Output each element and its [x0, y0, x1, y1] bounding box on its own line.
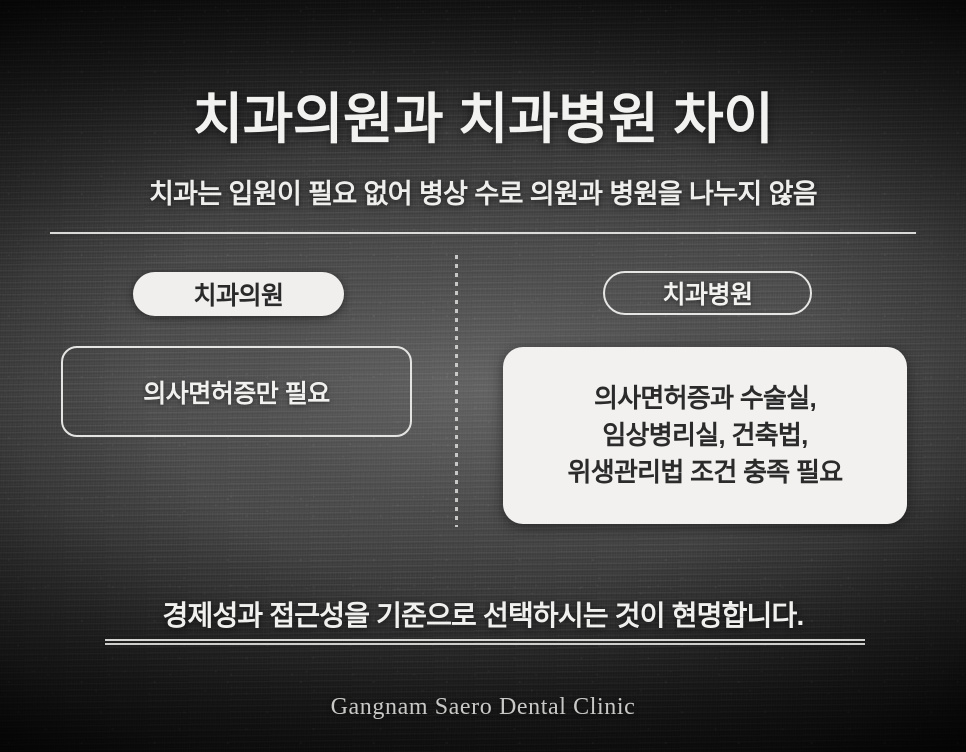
column-label-dental-hospital: 치과병원	[603, 271, 812, 315]
closing-statement: 경제성과 접근성을 기준으로 선택하시는 것이 현명합니다.	[0, 594, 966, 634]
requirements-card-hospital: 의사면허증과 수술실, 임상병리실, 건축법, 위생관리법 조건 충족 필요	[503, 347, 907, 524]
requirement-line: 의사면허증과 수술실,	[594, 381, 816, 416]
requirement-line: 위생관리법 조건 충족 필요	[568, 455, 843, 490]
requirements-card-clinic: 의사면허증만 필요	[61, 346, 412, 437]
requirement-line: 임상병리실, 건축법,	[602, 418, 807, 453]
footer-divider	[105, 639, 865, 645]
column-divider-dotted	[455, 255, 458, 527]
column-label-dental-clinic: 치과의원	[133, 272, 344, 316]
requirement-line: 의사면허증만 필요	[143, 374, 329, 410]
slide-canvas: 치과의원과 치과병원 차이 치과는 입원이 필요 없어 병상 수로 의원과 병원…	[0, 0, 966, 752]
page-subtitle: 치과는 입원이 필요 없어 병상 수로 의원과 병원을 나누지 않음	[0, 172, 966, 211]
clinic-name-footer: Gangnam Saero Dental Clinic	[0, 694, 966, 721]
header-divider	[50, 232, 916, 234]
page-title: 치과의원과 치과병원 차이	[0, 74, 966, 154]
